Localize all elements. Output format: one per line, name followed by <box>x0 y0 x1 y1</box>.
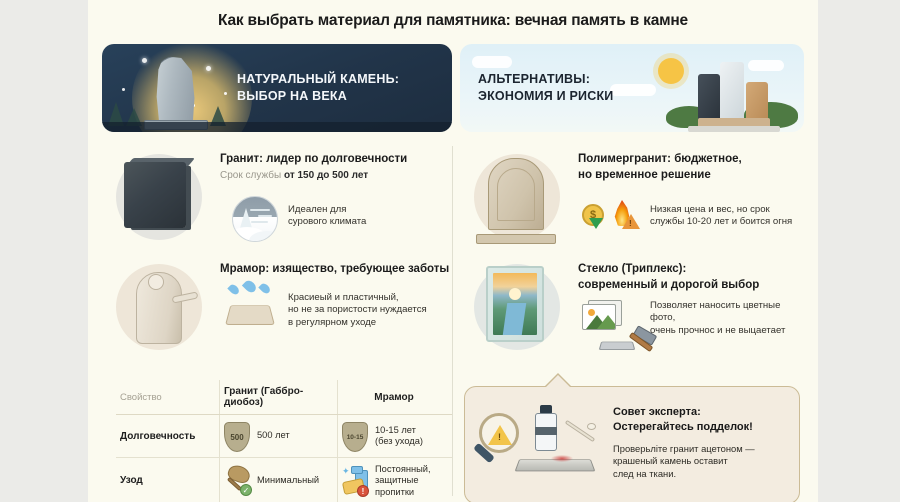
check-badge-icon: ✓ <box>240 484 252 496</box>
coin-down-arrow-icon: $ <box>582 204 604 226</box>
granite-block: Гранит: лидер по долговечности Срок служ… <box>102 148 452 248</box>
winter-climate-icon <box>232 196 278 242</box>
water-drop-icon <box>258 282 271 295</box>
natural-stone-header: НАТУРАЛЬНЫЙ КАМЕНЬ: ВЫБОР НА ВЕКА <box>102 44 452 132</box>
sparkle-icon: ✦ <box>342 466 350 477</box>
bottle-label-band <box>535 427 557 435</box>
natural-stone-header-text: НАТУРАЛЬНЫЙ КАМЕНЬ: ВЫБОР НА ВЕКА <box>237 71 399 105</box>
arrow-down-icon <box>589 218 603 229</box>
broom-icon: ✓ <box>224 466 254 496</box>
table-header-cell: Гранит (Габбро-диобоз) <box>220 380 338 414</box>
alternatives-header: АЛЬТЕРНАТИВЫ: ЭКОНОМИЯ И РИСКИ <box>460 44 804 132</box>
wind-line <box>258 215 272 217</box>
photo-sun-icon <box>509 288 521 300</box>
left-column: НАТУРАЛЬНЫЙ КАМЕНЬ: ВЫБОР НА ВЕКА Гранит… <box>102 44 452 350</box>
granite-title: Гранит: лидер по долговечности <box>220 152 452 168</box>
column-divider <box>452 146 453 496</box>
magnifier-warning-icon <box>479 413 519 453</box>
glass-title: Стекло (Триплекс): современный и дорогой… <box>578 262 804 293</box>
fir-tree-icon <box>240 208 252 228</box>
wind-line <box>250 209 270 211</box>
porous-slab-icon <box>225 305 275 325</box>
polymer-headstone-thumb <box>488 158 544 230</box>
wind-line <box>251 221 268 223</box>
shield-icon: 10-15 <box>342 421 372 451</box>
photo-stack <box>582 300 622 330</box>
star-icon <box>122 88 125 91</box>
water-drop-icon <box>242 278 258 294</box>
cloud-icon <box>610 84 656 96</box>
sun-icon <box>658 58 684 84</box>
table-row: Долговечность 500 500 лет 10-15 10-15 ле… <box>116 415 452 458</box>
table-cell-marble: 10-15 10-15 лет (без ухода) <box>338 415 452 457</box>
table-cell-marble: ✦ ! Постоянный, защитные пропитки <box>338 458 452 502</box>
photo-card-front <box>582 304 616 330</box>
impact-slab <box>599 342 636 350</box>
expert-tip-box: Совет эксперта: Остерегайтесь подделок! … <box>464 386 800 502</box>
swab-tip <box>587 423 596 430</box>
mountain-shape <box>597 315 616 329</box>
dark-slab-icon <box>698 74 720 120</box>
table-cell-property: Долговечность <box>116 415 220 457</box>
warning-badge-icon: ! <box>357 485 369 497</box>
warning-triangle-icon <box>622 214 640 229</box>
tip-pointer <box>545 375 571 388</box>
right-column: АЛЬТЕРНАТИВЫ: ЭКОНОМИЯ И РИСКИ Полимергр… <box>460 44 804 350</box>
star-icon <box>224 92 227 95</box>
infographic-page: Как выбрать материал для памятника: вечн… <box>0 0 900 502</box>
star-icon <box>206 66 211 71</box>
brown-slab-icon <box>746 82 768 120</box>
photo-stack-icon <box>582 300 622 330</box>
granite-subtitle: Срок службы от 150 до 500 лет <box>220 170 452 181</box>
content-card: Как выбрать материал для памятника: вечн… <box>88 0 818 502</box>
table-header-cell: Свойство <box>116 380 220 414</box>
table-row: Узод ✓ Минимальный ✦ <box>116 458 452 502</box>
granite-climate-note: Идеален для сурового климата <box>288 204 366 229</box>
glass-triplex-photo-thumb <box>486 266 544 342</box>
photo-river <box>503 303 527 335</box>
page-title: Как выбрать материал для памятника: вечн… <box>88 12 818 30</box>
table-header-cell: Мрамор <box>338 380 452 414</box>
glass-note: Позволяет наносить цветные фото, очень п… <box>650 300 804 337</box>
shield-badge: 10-15 <box>342 422 368 452</box>
alternatives-header-text: АЛЬТЕРНАТИВЫ: ЭКОНОМИЯ И РИСКИ <box>478 71 613 105</box>
landscape-photo <box>493 273 537 335</box>
acetone-stain <box>551 455 573 462</box>
glass-block: Стекло (Триплекс): современный и дорогой… <box>460 258 804 350</box>
marble-title: Мрамор: изящество, требующее заботы <box>220 262 452 278</box>
table-header-row: Свойство Гранит (Габбро-диобоз) Мрамор <box>116 380 452 415</box>
shield-badge: 500 <box>224 422 250 452</box>
polymer-note: Низкая цена и вес, но срок службы 10-20 … <box>650 204 792 229</box>
cloud-icon <box>472 56 512 68</box>
marble-care-note: Красиеый и пластичный, но не за пористос… <box>288 292 427 329</box>
light-slab-icon <box>720 62 744 120</box>
table-cell-granite: 500 500 лет <box>220 415 338 457</box>
tip-body: Проверьліте гранит ацетоном — крашеный к… <box>613 443 791 480</box>
polymer-title: Полимергранит: бюджетное, но временное р… <box>578 152 804 183</box>
granite-subtitle-prefix: Срок службы <box>220 170 281 181</box>
baseplate-icon <box>688 126 780 132</box>
tip-title: Совет эксперта: Остерегайтесь подделок! <box>613 405 789 435</box>
spray-sponge-icon: ✦ ! <box>342 466 372 496</box>
flame-warning-icon <box>612 200 632 226</box>
granite-block-thumb <box>124 162 186 228</box>
water-drops-porous-slab-icon <box>228 298 272 326</box>
warning-triangle-icon <box>488 425 512 445</box>
marble-block: Мрамор: изящество, требующее заботы Крас… <box>102 258 452 350</box>
table-cell-property: Узод <box>116 458 220 502</box>
table-cell-granite: ✓ Минимальный <box>220 458 338 502</box>
polymer-block: Полимергранит: бюджетное, но временное р… <box>460 148 804 248</box>
polymer-base <box>476 234 556 244</box>
statue-head <box>148 274 164 290</box>
shield-icon: 500 <box>224 421 254 451</box>
granite-subtitle-value: от 150 до 500 лет <box>284 170 368 181</box>
ground-strip <box>102 122 452 132</box>
cloud-icon <box>748 60 784 71</box>
comparison-table: Свойство Гранит (Габбро-диобоз) Мрамор Д… <box>116 380 452 502</box>
water-drop-icon <box>227 283 240 296</box>
star-icon <box>142 58 147 63</box>
